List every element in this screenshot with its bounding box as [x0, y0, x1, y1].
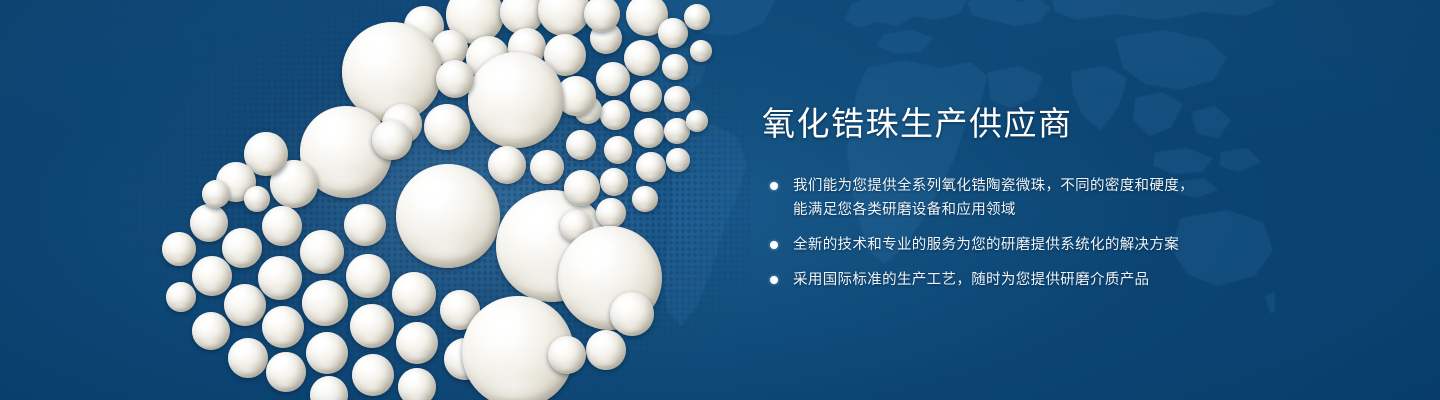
bullet-dot-icon: [770, 241, 778, 249]
hero-banner: 氧化锆珠生产供应商 我们能为您提供全系列氧化锆陶瓷微珠，不同的密度和硬度， 能满…: [0, 0, 1440, 400]
bullet-text-line-1: 采用国际标准的生产工艺，随时为您提供研磨介质产品: [793, 272, 1149, 288]
bullet-text-line-1: 全新的技术和专业的服务为您的研磨提供系统化的解决方案: [793, 237, 1179, 253]
bullet-dot-icon: [770, 276, 778, 284]
banner-bullet-list: 我们能为您提供全系列氧化锆陶瓷微珠，不同的密度和硬度， 能满足您各类研磨设备和应…: [762, 174, 1362, 292]
banner-bullet-item: 全新的技术和专业的服务为您的研磨提供系统化的解决方案: [762, 233, 1362, 257]
bullet-dot-icon: [770, 182, 778, 190]
banner-content: 氧化锆珠生产供应商 我们能为您提供全系列氧化锆陶瓷微珠，不同的密度和硬度， 能满…: [762, 104, 1362, 292]
banner-bullet-item: 我们能为您提供全系列氧化锆陶瓷微珠，不同的密度和硬度， 能满足您各类研磨设备和应…: [762, 174, 1362, 222]
banner-headline: 氧化锆珠生产供应商: [762, 104, 1362, 144]
banner-bullet-item: 采用国际标准的生产工艺，随时为您提供研磨介质产品: [762, 268, 1362, 292]
bullet-text-line-1: 我们能为您提供全系列氧化锆陶瓷微珠，不同的密度和硬度，: [793, 178, 1194, 194]
bullet-text-line-2: 能满足您各类研磨设备和应用领域: [793, 198, 1362, 222]
